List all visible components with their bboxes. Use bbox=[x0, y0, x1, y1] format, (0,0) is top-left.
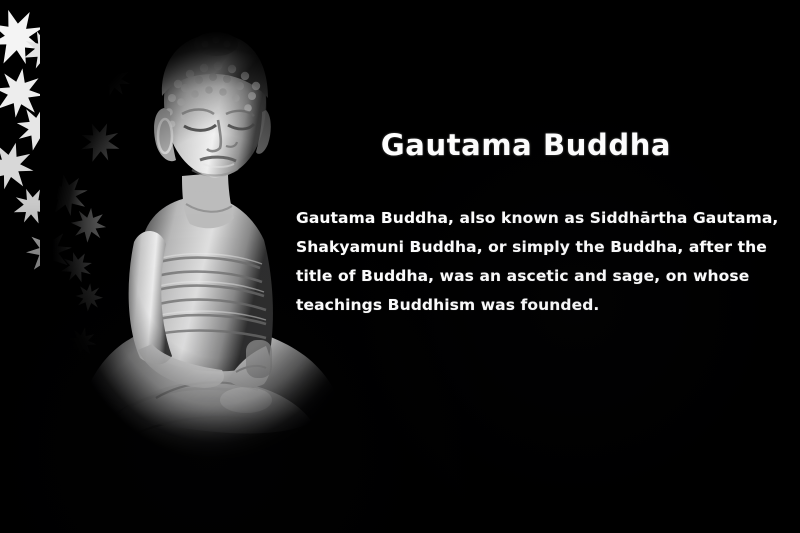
quote-body-line: Shakyamuni Buddha, or simply the Buddha,… bbox=[296, 233, 774, 262]
quote-body-line: title of Buddha, was an ascetic and sage… bbox=[296, 262, 774, 291]
quote-text-block: Gautama Buddha Gautama Buddha, also know… bbox=[296, 128, 774, 320]
maple-leaf-icon bbox=[0, 63, 49, 124]
quote-body-line: Gautama Buddha, also known as Siddhārtha… bbox=[296, 204, 774, 233]
quote-body-line: teachings Buddhism was founded. bbox=[296, 291, 774, 320]
page-title: Gautama Buddha bbox=[296, 128, 774, 162]
maple-leaf-icon bbox=[5, 179, 58, 232]
quote-body: Gautama Buddha, also known as Siddhārtha… bbox=[296, 204, 774, 320]
maple-leaf-icon bbox=[0, 0, 56, 76]
maple-leaf-icon bbox=[0, 134, 42, 197]
buddha-quote-poster: Gautama Buddha Gautama Buddha, also know… bbox=[0, 0, 800, 533]
